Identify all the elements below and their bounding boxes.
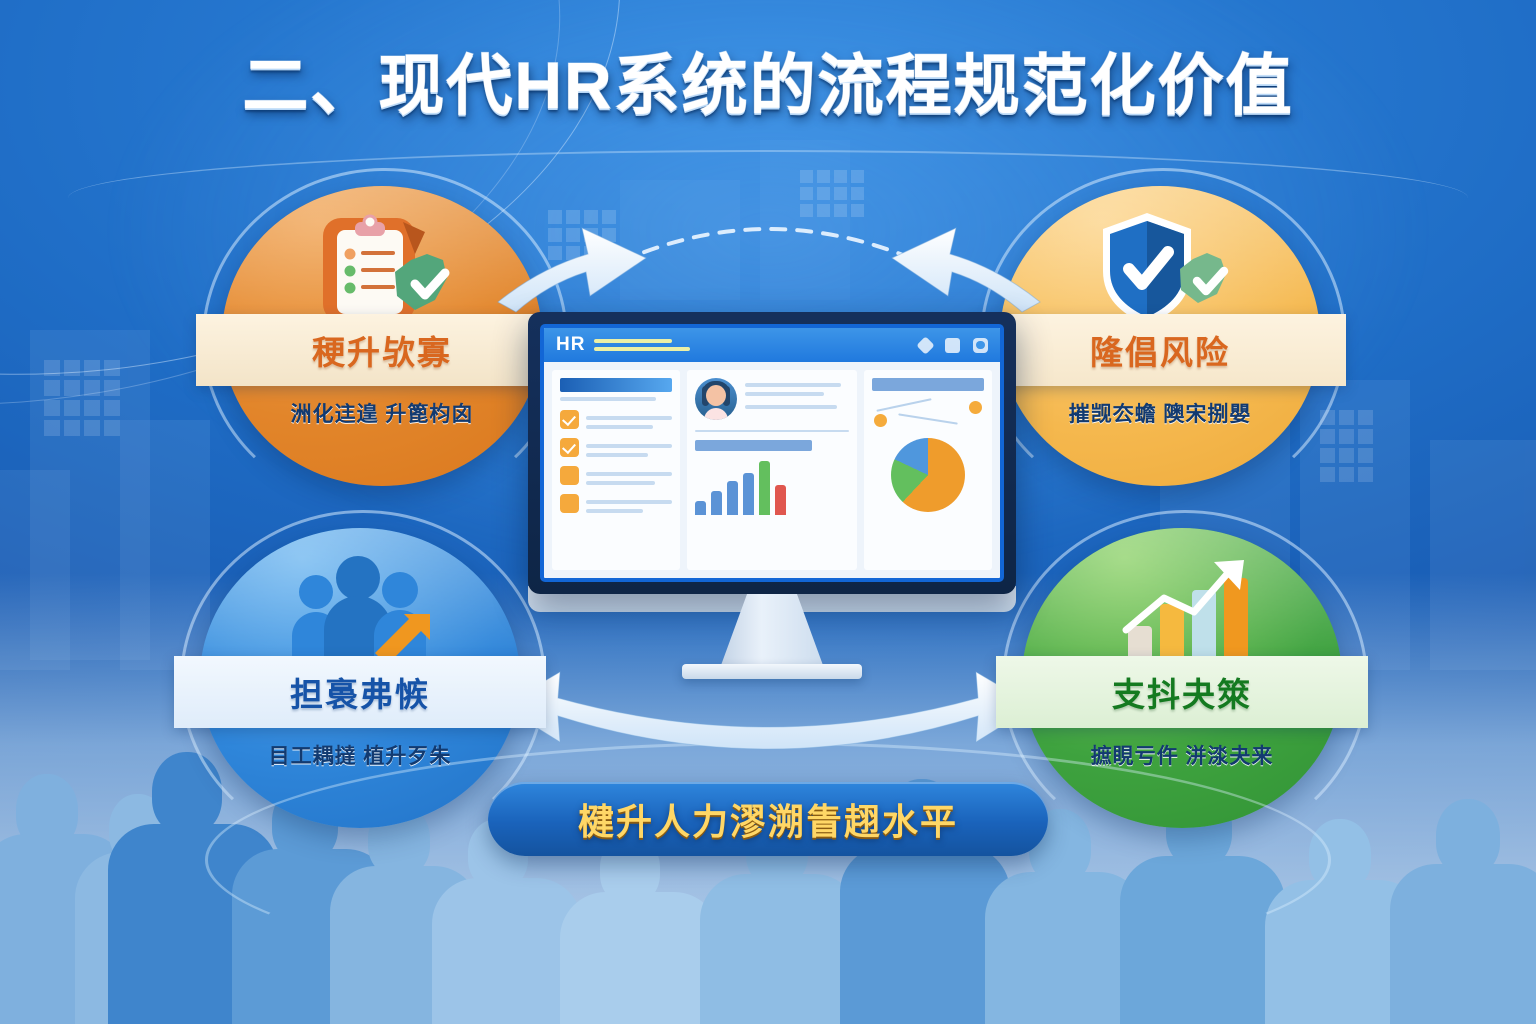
divider (695, 430, 849, 432)
card-risk[interactable]: 隆倡风险 摧觊厺蟾 隩宋捌嬰 (1000, 186, 1320, 486)
card-subtitle: 洲化迬遑 升篦枃囟 (232, 398, 532, 428)
pie-chart (891, 438, 965, 512)
camera-icon[interactable] (973, 338, 988, 353)
page-title-wrap: 二、现代HR系统的流程规范化价值 (0, 32, 1536, 128)
card-subtitle: 摭睍亏仵 洴渁夬来 (1032, 740, 1332, 770)
scatter-point (969, 401, 982, 414)
hr-dashboard-monitor[interactable]: HR (528, 312, 1016, 712)
panel-line (560, 397, 656, 401)
card-ribbon: 隆倡风险 (974, 314, 1346, 386)
checklist-item[interactable] (560, 438, 672, 457)
bar-chart (695, 459, 849, 515)
monitor-base (682, 664, 862, 679)
card-ribbon: 稉升欤寡 (196, 314, 568, 386)
item-text-placeholder (586, 411, 672, 429)
summary-banner-text: 楗升人力漻溯眚趐水平 (578, 793, 958, 845)
page-title: 二、现代HR系统的流程规范化价值 (242, 32, 1293, 128)
scatter-chart (872, 398, 984, 432)
card-ribbon: 担裛弗愱 (174, 656, 546, 728)
infographic-canvas: 二、现代HR系统的流程规范化价值 (0, 0, 1536, 1024)
card-ribbon: 支抖夬箂 (996, 656, 1368, 728)
analytics-panel (864, 370, 992, 570)
employee-profile-card[interactable] (695, 378, 849, 420)
scatter-point (874, 414, 887, 427)
checklist-panel (552, 370, 680, 570)
square-icon[interactable] (945, 338, 960, 353)
card-title: 担裛弗愱 (290, 668, 430, 716)
profile-and-chart-panel (687, 370, 857, 570)
hr-logo: HR (556, 334, 585, 356)
panel-title-bar (872, 378, 984, 391)
header-title-placeholder (594, 339, 690, 351)
sparkle-icon[interactable] (916, 336, 934, 354)
card-subtitle: 摧觊厺蟾 隩宋捌嬰 (1010, 398, 1310, 428)
panel-title-bar (560, 378, 672, 392)
item-text-placeholder (586, 467, 672, 485)
item-text-placeholder (586, 439, 672, 457)
banner-arc (205, 742, 1331, 978)
checklist-item[interactable] (560, 466, 672, 485)
checkbox-empty-icon[interactable] (560, 466, 579, 485)
checkbox-checked-icon[interactable] (560, 410, 579, 429)
summary-banner: 楗升人力漻溯眚趐水平 (488, 782, 1048, 856)
checkbox-checked-icon[interactable] (560, 438, 579, 457)
checkbox-empty-icon[interactable] (560, 494, 579, 513)
item-text-placeholder (586, 495, 672, 513)
dashboard-body (544, 362, 1000, 578)
checklist-item[interactable] (560, 494, 672, 513)
card-title: 稉升欤寡 (312, 326, 452, 374)
card-efficiency[interactable]: 稉升欤寡 洲化迬遑 升篦枃囟 (222, 186, 542, 486)
header-icon-group (919, 338, 988, 353)
card-title: 支抖夬箂 (1112, 668, 1252, 716)
dashboard-header: HR (544, 328, 1000, 362)
monitor-screen: HR (540, 324, 1004, 582)
chart-title-bar (695, 440, 812, 451)
profile-text-placeholder (745, 378, 849, 409)
card-subtitle: 目工耦撻 植升歹朱 (210, 740, 510, 770)
card-title: 隆倡风险 (1090, 326, 1230, 374)
avatar (695, 378, 737, 420)
checklist-item[interactable] (560, 410, 672, 429)
monitor-frame: HR (528, 312, 1016, 594)
